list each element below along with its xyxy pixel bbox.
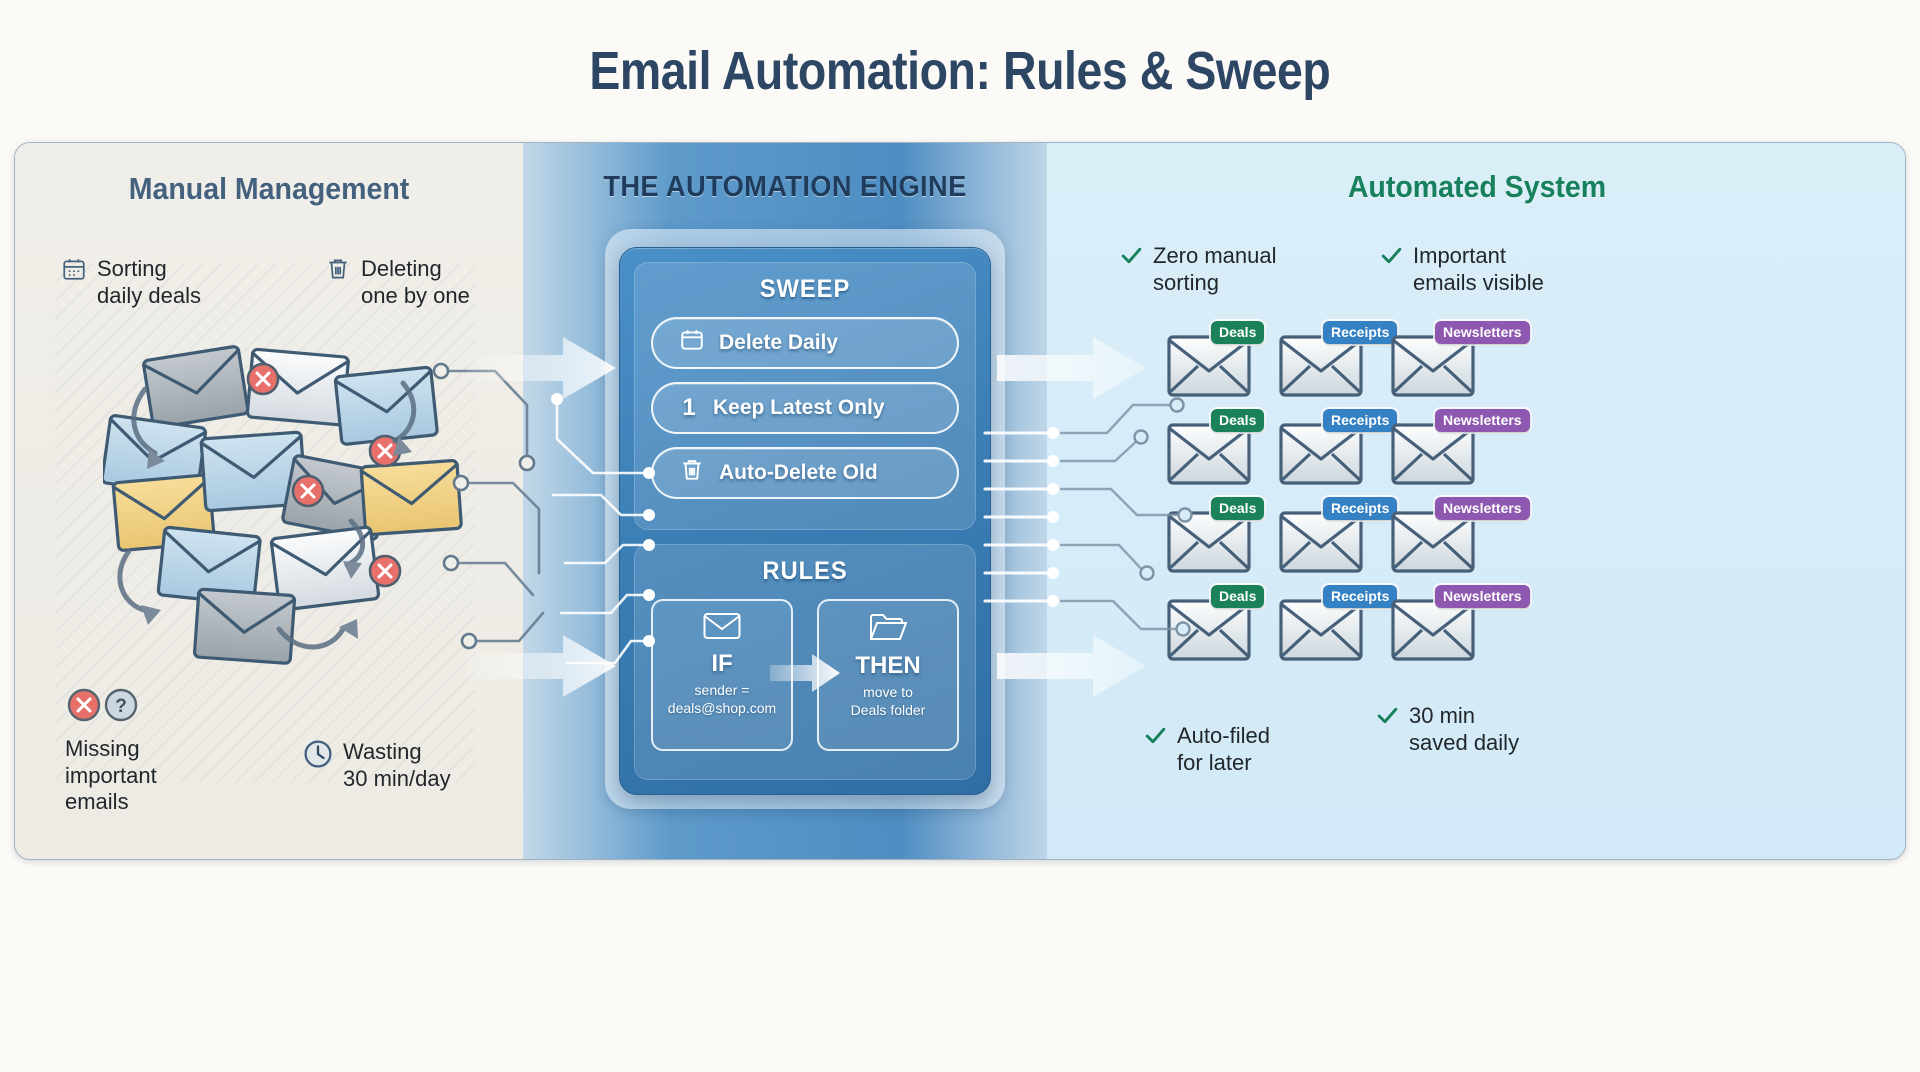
sorted-email-newsletters[interactable]: Newsletters: [1391, 497, 1503, 585]
error-question-icons: ?: [65, 687, 143, 730]
sorted-email-receipts[interactable]: Receipts: [1279, 585, 1391, 673]
sweep-action-label: Keep Latest Only: [713, 396, 885, 420]
benefit-label: Auto-filed for later: [1177, 723, 1270, 777]
panel-manual-management: Manual Management Sorting daily deals: [15, 143, 523, 859]
sorted-email-grid: DealsReceiptsNewslettersDealsReceiptsNew…: [1167, 321, 1503, 673]
sweep-action-auto-delete-old[interactable]: Auto-Delete Old: [651, 447, 959, 499]
sweep-action-keep-latest-only[interactable]: 1 Keep Latest Only: [651, 382, 959, 434]
benefit-auto-filed: Auto-filed for later: [1143, 723, 1270, 777]
panel-automated-system: Automated System Zero manual sorting Imp…: [1047, 143, 1906, 859]
category-badge: Receipts: [1323, 497, 1397, 520]
category-badge: Newsletters: [1435, 585, 1530, 608]
benefit-label: Important emails visible: [1413, 243, 1544, 297]
center-panel-heading: THE AUTOMATION ENGINE: [539, 171, 1032, 204]
sorted-email-deals[interactable]: Deals: [1167, 321, 1279, 409]
trash-icon: [679, 457, 705, 489]
benefit-label: 30 min saved daily: [1409, 703, 1519, 757]
rule-then-detail: move to Deals folder: [851, 684, 926, 719]
calendar-icon: [679, 327, 705, 359]
category-badge: Receipts: [1323, 409, 1397, 432]
pain-point-sorting: Sorting daily deals: [61, 256, 201, 310]
clock-icon: [303, 739, 333, 776]
pain-point-label: Deleting one by one: [361, 256, 470, 310]
rule-flow-arrow-icon: [768, 651, 842, 700]
pain-point-wasting-time: Wasting 30 min/day: [303, 739, 451, 793]
sorted-email-receipts[interactable]: Receipts: [1279, 321, 1391, 409]
category-badge: Deals: [1211, 585, 1264, 608]
rule-if-detail: sender = deals@shop.com: [668, 682, 776, 717]
category-badge: Newsletters: [1435, 321, 1530, 344]
calendar-icon: [61, 256, 87, 289]
number-one: 1: [679, 394, 699, 422]
page-title: Email Automation: Rules & Sweep: [589, 40, 1330, 102]
pain-point-label: Missing important emails: [65, 736, 157, 816]
category-badge: Newsletters: [1435, 497, 1530, 520]
trash-icon: [325, 256, 351, 289]
check-icon: [1379, 243, 1404, 275]
sweep-action-delete-daily[interactable]: Delete Daily: [651, 317, 959, 369]
check-icon: [1119, 243, 1144, 275]
pain-point-deleting: Deleting one by one: [325, 256, 470, 310]
benefit-label: Zero manual sorting: [1153, 243, 1277, 297]
svg-text:?: ?: [115, 696, 127, 717]
sorted-email-receipts[interactable]: Receipts: [1279, 497, 1391, 585]
rules-title: RULES: [659, 557, 952, 586]
category-badge: Receipts: [1323, 585, 1397, 608]
category-badge: Deals: [1211, 409, 1264, 432]
left-panel-heading: Manual Management: [35, 171, 502, 207]
sweep-section: SWEEP Delete Daily 1 Keep Latest Only: [634, 262, 976, 530]
check-icon: [1143, 723, 1168, 755]
sorted-email-deals[interactable]: Deals: [1167, 409, 1279, 497]
rule-then-keyword: THEN: [855, 652, 920, 680]
pain-point-missing-emails: ? Missing important emails: [65, 687, 157, 816]
messy-envelope-pile: [103, 343, 463, 673]
sorted-email-newsletters[interactable]: Newsletters: [1391, 409, 1503, 497]
sweep-action-label: Delete Daily: [719, 331, 838, 355]
sorted-email-newsletters[interactable]: Newsletters: [1391, 585, 1503, 673]
rule-if-keyword: IF: [711, 650, 732, 678]
diagram-board: Manual Management Sorting daily deals: [14, 142, 1906, 860]
rules-section: RULES IF sender = deals@shop.com: [634, 544, 976, 780]
sweep-title: SWEEP: [659, 275, 952, 304]
sorted-email-newsletters[interactable]: Newsletters: [1391, 321, 1503, 409]
category-badge: Deals: [1211, 321, 1264, 344]
pain-point-label: Sorting daily deals: [97, 256, 201, 310]
envelope-icon: [703, 612, 741, 645]
check-icon: [1375, 703, 1400, 735]
pain-point-label: Wasting 30 min/day: [343, 739, 451, 793]
right-panel-heading: Automated System: [1081, 169, 1872, 205]
folder-icon: [869, 612, 907, 647]
rule-if-then-row: IF sender = deals@shop.com: [651, 599, 959, 751]
benefit-zero-manual-sorting: Zero manual sorting: [1119, 243, 1277, 297]
benefit-important-emails-visible: Important emails visible: [1379, 243, 1544, 297]
sorted-email-deals[interactable]: Deals: [1167, 585, 1279, 673]
category-badge: Deals: [1211, 497, 1264, 520]
automation-engine-card: SWEEP Delete Daily 1 Keep Latest Only: [619, 247, 991, 795]
category-badge: Newsletters: [1435, 409, 1530, 432]
sorted-email-receipts[interactable]: Receipts: [1279, 409, 1391, 497]
sorted-email-deals[interactable]: Deals: [1167, 497, 1279, 585]
title-bar: Email Automation: Rules & Sweep: [0, 0, 1920, 142]
sweep-action-label: Auto-Delete Old: [719, 461, 878, 485]
benefit-time-saved: 30 min saved daily: [1375, 703, 1519, 757]
category-badge: Receipts: [1323, 321, 1397, 344]
